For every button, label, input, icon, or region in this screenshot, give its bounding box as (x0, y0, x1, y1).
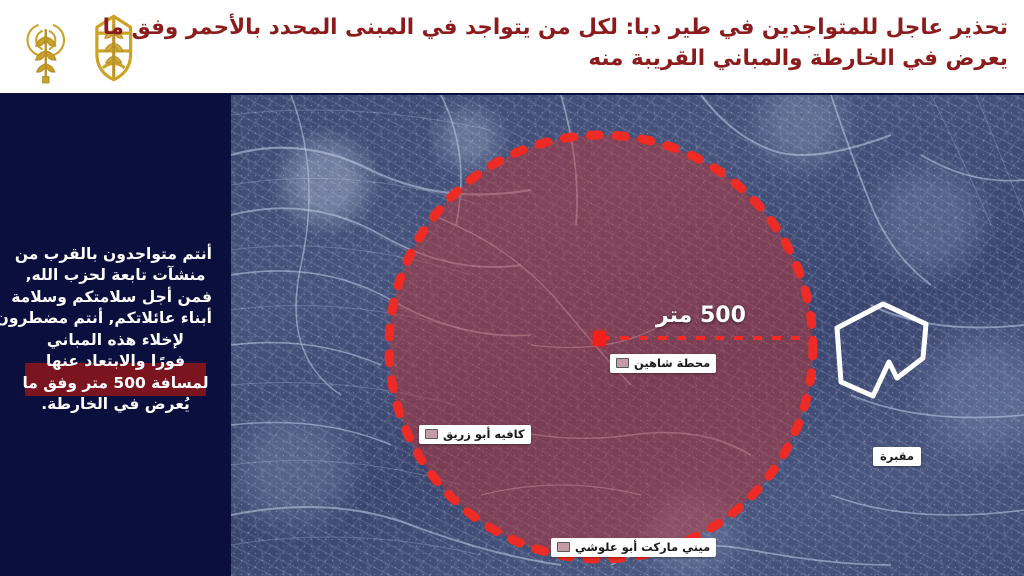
warning-line: أنتم متواجدون بالقرب من (19, 244, 212, 266)
cemetery-outline (831, 300, 966, 410)
warning-line: يُعرض في الخارطة. (19, 394, 212, 416)
broadcast-antenna-emblem (18, 11, 74, 85)
headline: تحذير عاجل للمتواجدين في طير دبا: لكل من… (163, 12, 1008, 74)
radius-measure-line (601, 336, 815, 340)
satellite-map[interactable]: 500 متر محطة شاهين كافيه أبو زريق ميني م… (231, 95, 1024, 576)
header-bar: تحذير عاجل للمتواجدين في طير دبا: لكل من… (0, 0, 1024, 95)
warning-line-highlighted: فورًا والابتعاد عنها (19, 351, 212, 373)
poi-label: محطة شاهين (634, 356, 710, 370)
target-building-marker (593, 331, 606, 346)
poi-abu-zureik-cafe[interactable]: كافيه أبو زريق (419, 425, 531, 444)
warning-graphic-root: تحذير عاجل للمتواجدين في طير دبا: لكل من… (0, 0, 1024, 576)
map-pin-icon (425, 429, 438, 439)
highlighted-warning-block: فورًا والابتعاد عنها لمسافة 500 متر وفق … (19, 351, 212, 394)
cemetery-label: مقبرة (873, 447, 921, 466)
poi-abu-aloushi-mini-market[interactable]: ميني ماركت أبو علوشي (551, 538, 716, 557)
warning-line: فمن أجل سلامتكم وسلامة (19, 287, 212, 309)
warning-sidebar: أنتم متواجدون بالقرب من منشآت تابعة لحزب… (0, 95, 231, 576)
poi-label: ميني ماركت أبو علوشي (575, 540, 710, 554)
warning-line-highlighted: لمسافة 500 متر وفق ما (19, 373, 212, 395)
headline-line-1: تحذير عاجل للمتواجدين في طير دبا: لكل من… (163, 12, 1008, 43)
radius-label: 500 متر (656, 303, 746, 328)
poi-shaheen-station[interactable]: محطة شاهين (610, 354, 716, 373)
warning-message: أنتم متواجدون بالقرب من منشآت تابعة لحزب… (13, 244, 218, 416)
map-pin-icon (616, 358, 629, 368)
warning-line: منشآت تابعة لحزب الله, (19, 265, 212, 287)
warning-line: أبناء عائلاتكم, أنتم مضطرون (19, 308, 212, 330)
map-pin-icon (557, 542, 570, 552)
poi-label: كافيه أبو زريق (443, 427, 525, 441)
warning-line: لإخلاء هذه المباني (19, 330, 212, 352)
danger-zone-dashed-border (381, 127, 821, 567)
headline-line-2: يعرض في الخارطة والمباني القريبة منه (163, 43, 1008, 74)
